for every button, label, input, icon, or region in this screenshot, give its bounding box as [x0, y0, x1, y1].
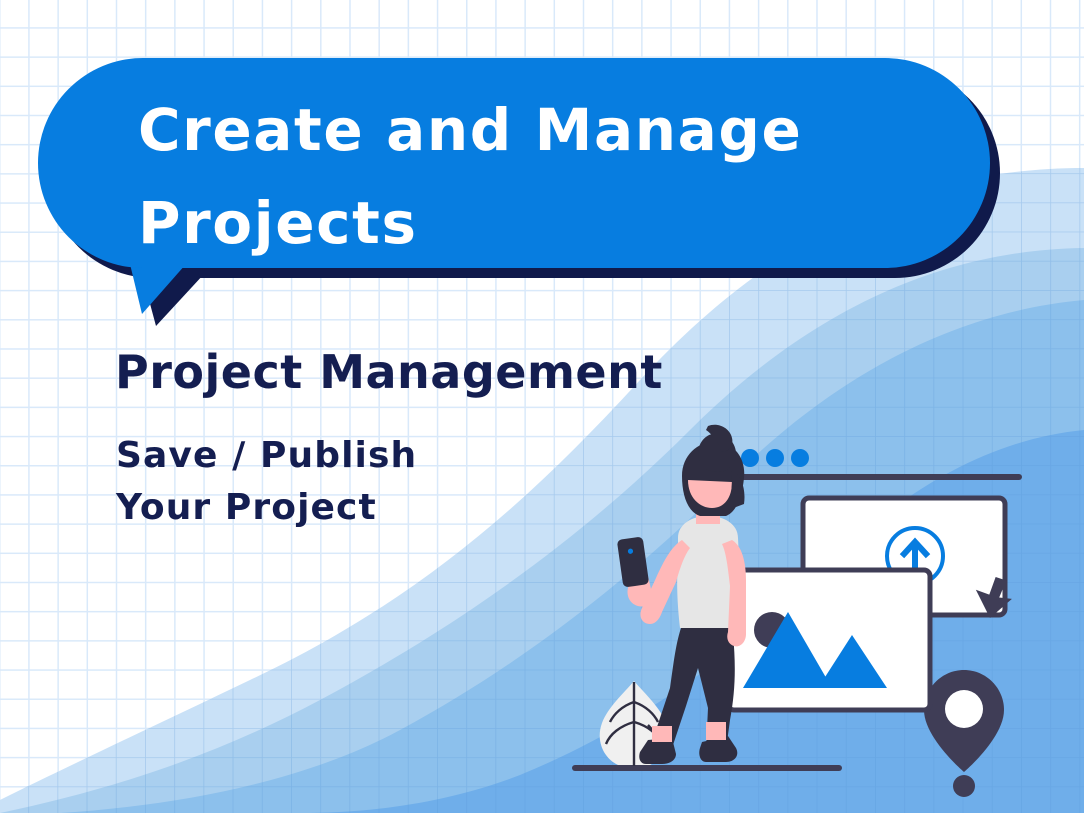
map-pin-icon	[924, 670, 1004, 797]
page-caption: Save / Publish Your Project	[116, 430, 417, 534]
ground-line	[572, 765, 842, 771]
page-subtitle: Project Management	[115, 345, 663, 399]
browser-bar	[732, 474, 1022, 480]
phone	[617, 536, 649, 587]
bubble-title-text: Create and Manage Projects	[138, 84, 938, 270]
image-window	[728, 570, 930, 710]
browser-dots-icon	[741, 449, 809, 467]
upload-publish-illustration	[560, 420, 1084, 813]
head	[682, 425, 745, 516]
speech-bubble: Create and Manage Projects	[22, 46, 1007, 316]
slide-canvas: Create and Manage Projects Project Manag…	[0, 0, 1084, 813]
speech-bubble-tail	[130, 264, 186, 314]
